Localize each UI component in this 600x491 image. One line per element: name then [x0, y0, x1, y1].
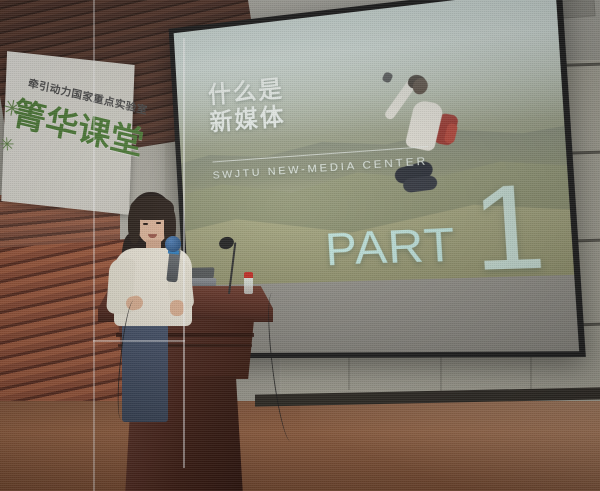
water-bottle — [244, 276, 253, 294]
slide-part-label: PART — [324, 221, 458, 273]
floor-reflection — [300, 401, 600, 491]
slide-title-line2: 新媒体 — [209, 103, 287, 137]
glass-railing-bar — [93, 340, 185, 342]
lecture-hall-photo: ✳ ✳ 牵引动力国家重点实验室 箐华课堂 — [0, 0, 600, 491]
slide-title: 什么是 新媒体 — [207, 75, 286, 137]
glass-railing-post — [183, 38, 185, 468]
slide-part-number: 1 — [469, 165, 549, 286]
phone-in-hand-icon — [382, 72, 394, 84]
handheld-mic-head — [165, 236, 181, 252]
glass-railing-post — [93, 0, 95, 491]
event-banner: ✳ ✳ 牵引动力国家重点实验室 箐华课堂 — [1, 51, 134, 215]
presenter-right-hand — [170, 300, 184, 316]
bottle-cap — [244, 272, 253, 278]
leaf-icon: ✳ — [0, 135, 15, 153]
